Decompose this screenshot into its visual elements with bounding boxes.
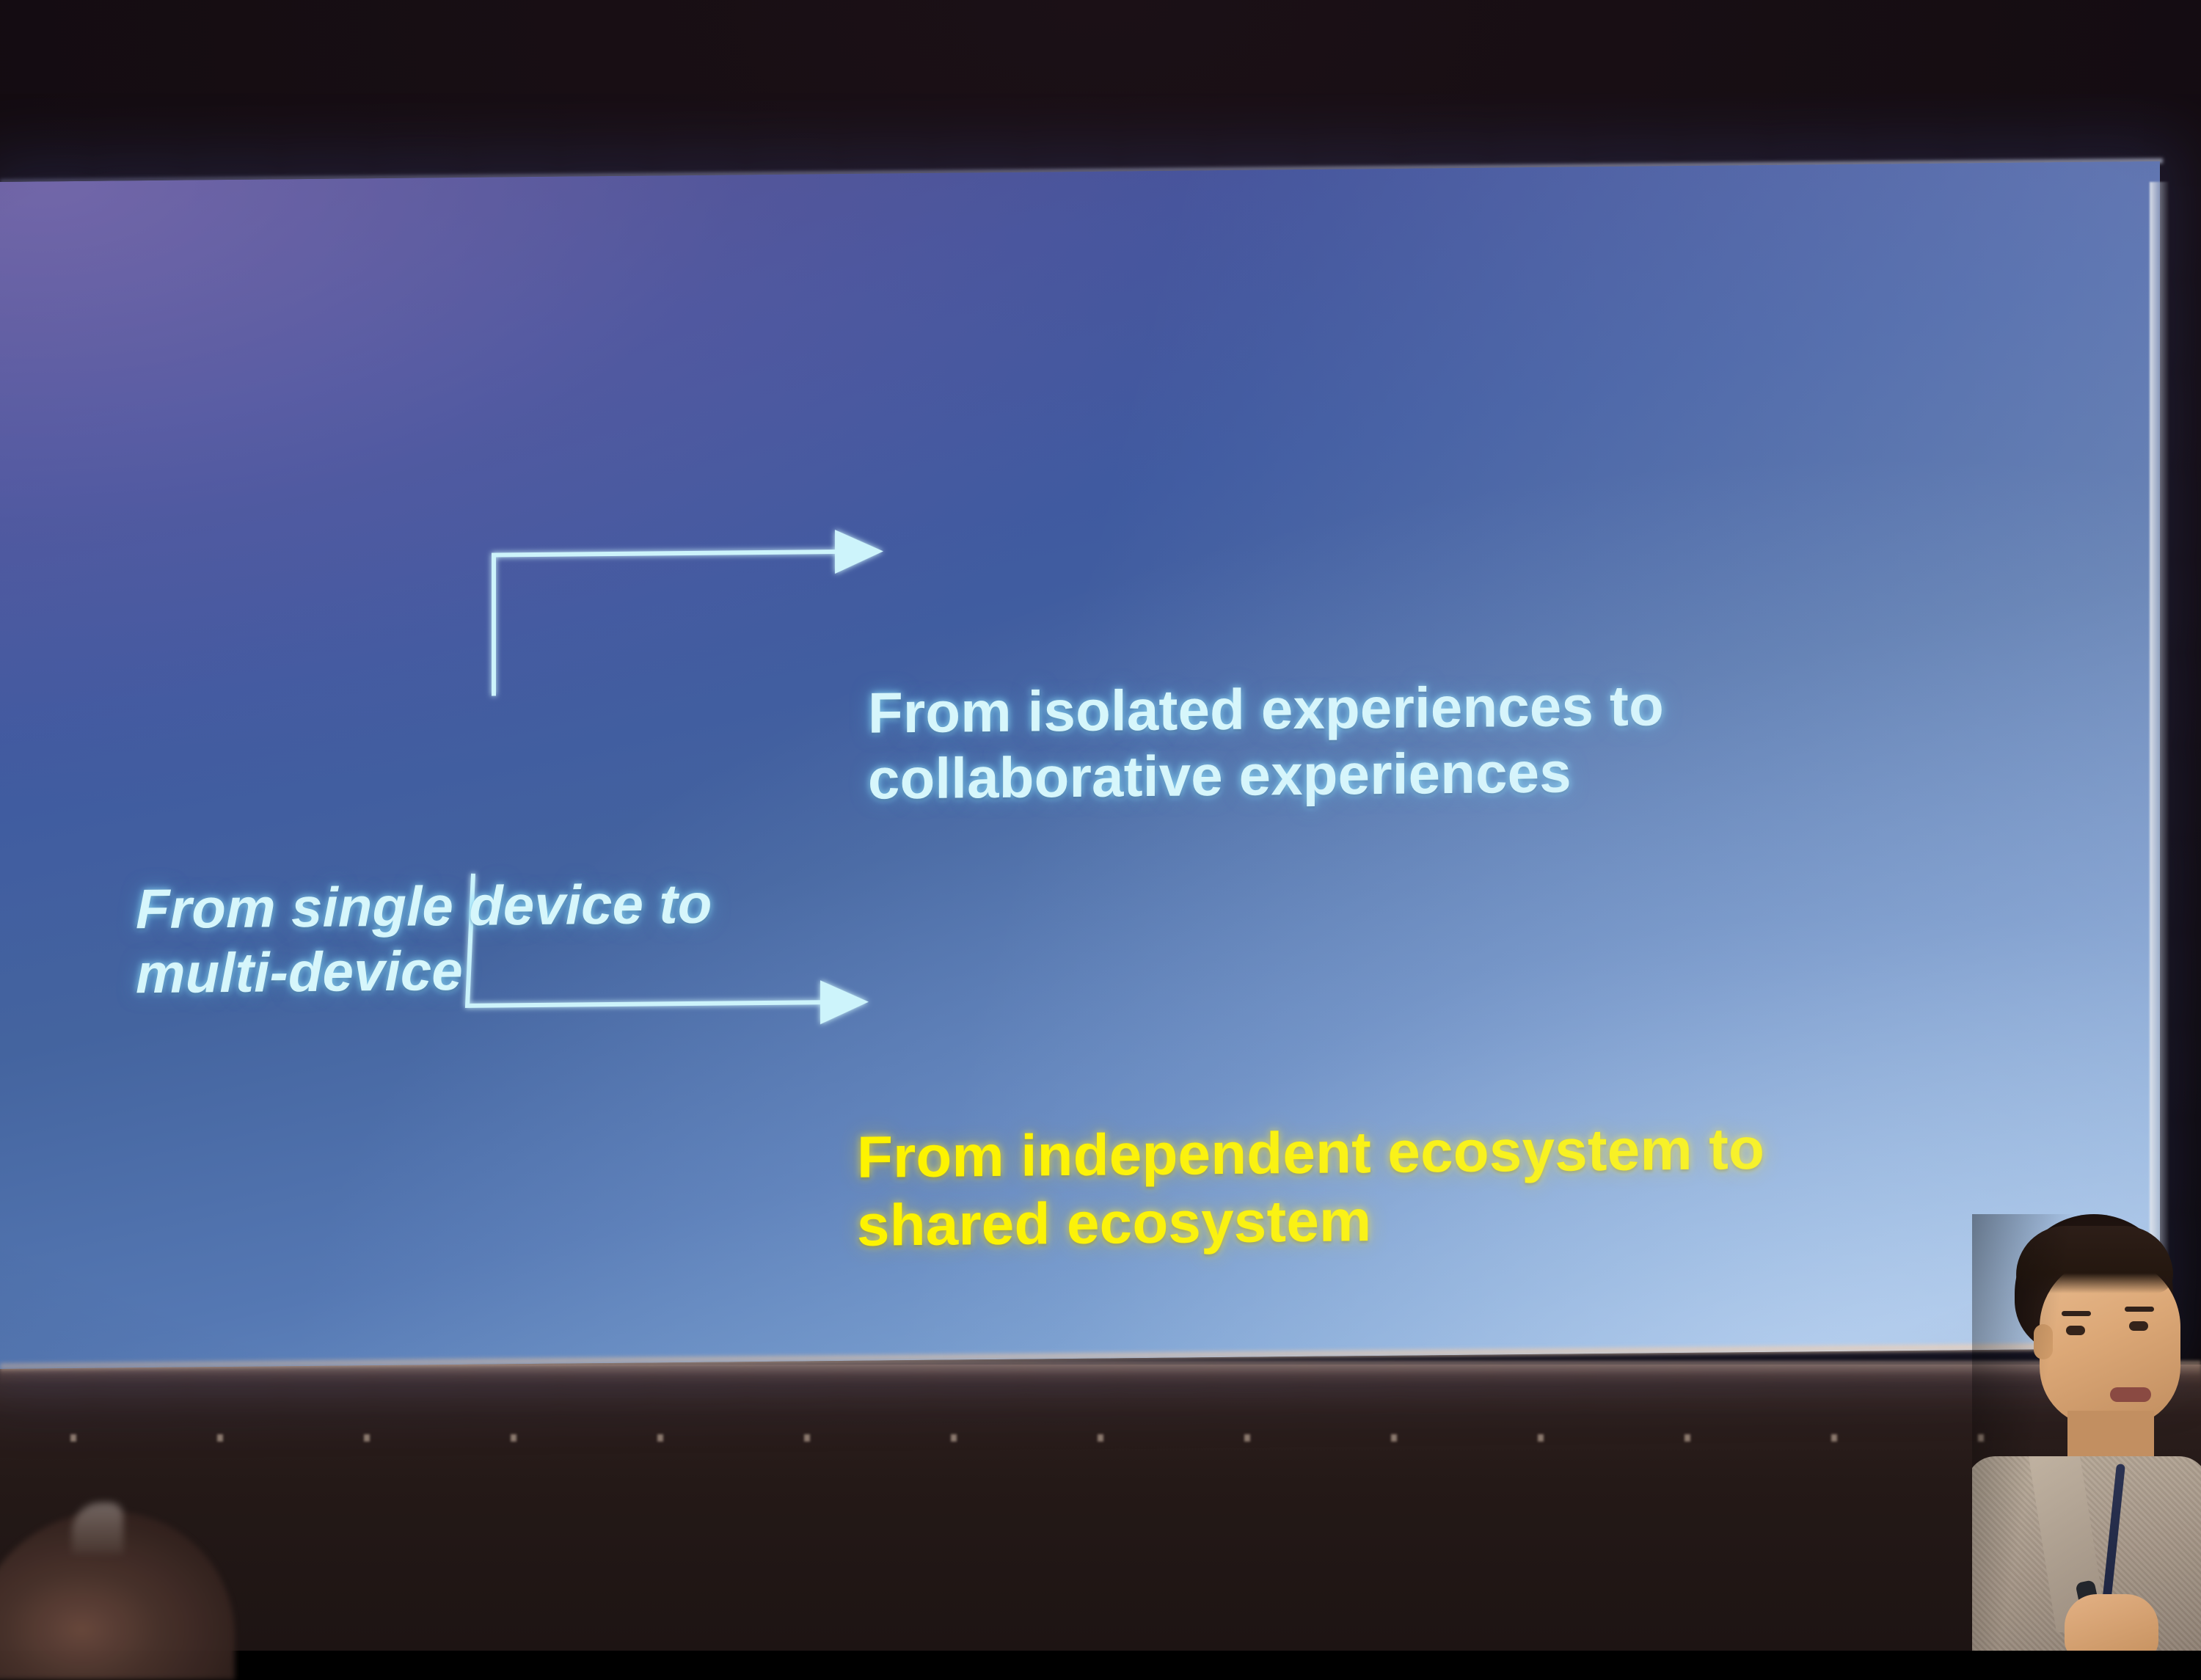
- presenter-eyebrow-right: [2125, 1307, 2154, 1312]
- presenter-eyebrow-left: [2062, 1311, 2091, 1316]
- presenter: [1972, 1214, 2201, 1651]
- presenter-hand: [2065, 1594, 2158, 1651]
- presenter-eye-left: [2066, 1326, 2085, 1335]
- projection-screen: From single device to multi-device From …: [0, 161, 2160, 1369]
- screen-right-bezel: [2150, 182, 2169, 1356]
- presenter-mouth: [2110, 1387, 2151, 1402]
- slide-branch-bottom-statement: From independent ecosystem to shared eco…: [857, 1115, 1764, 1260]
- stage-drape: [0, 1365, 2201, 1651]
- presenter-hair-front: [2016, 1226, 2173, 1293]
- stage-room-background: From single device to multi-device From …: [0, 0, 2201, 1651]
- stage-drape-studs: [0, 1434, 2201, 1442]
- slide-branch-top-statement: From isolated experiences to collaborati…: [868, 672, 1664, 812]
- slide-root-statement: From single device to multi-device: [136, 872, 712, 1007]
- presenter-ear: [2034, 1324, 2053, 1359]
- connector-branch-up: [494, 552, 844, 696]
- presenter-eye-right: [2129, 1321, 2148, 1331]
- slide: From single device to multi-device From …: [0, 161, 2160, 1369]
